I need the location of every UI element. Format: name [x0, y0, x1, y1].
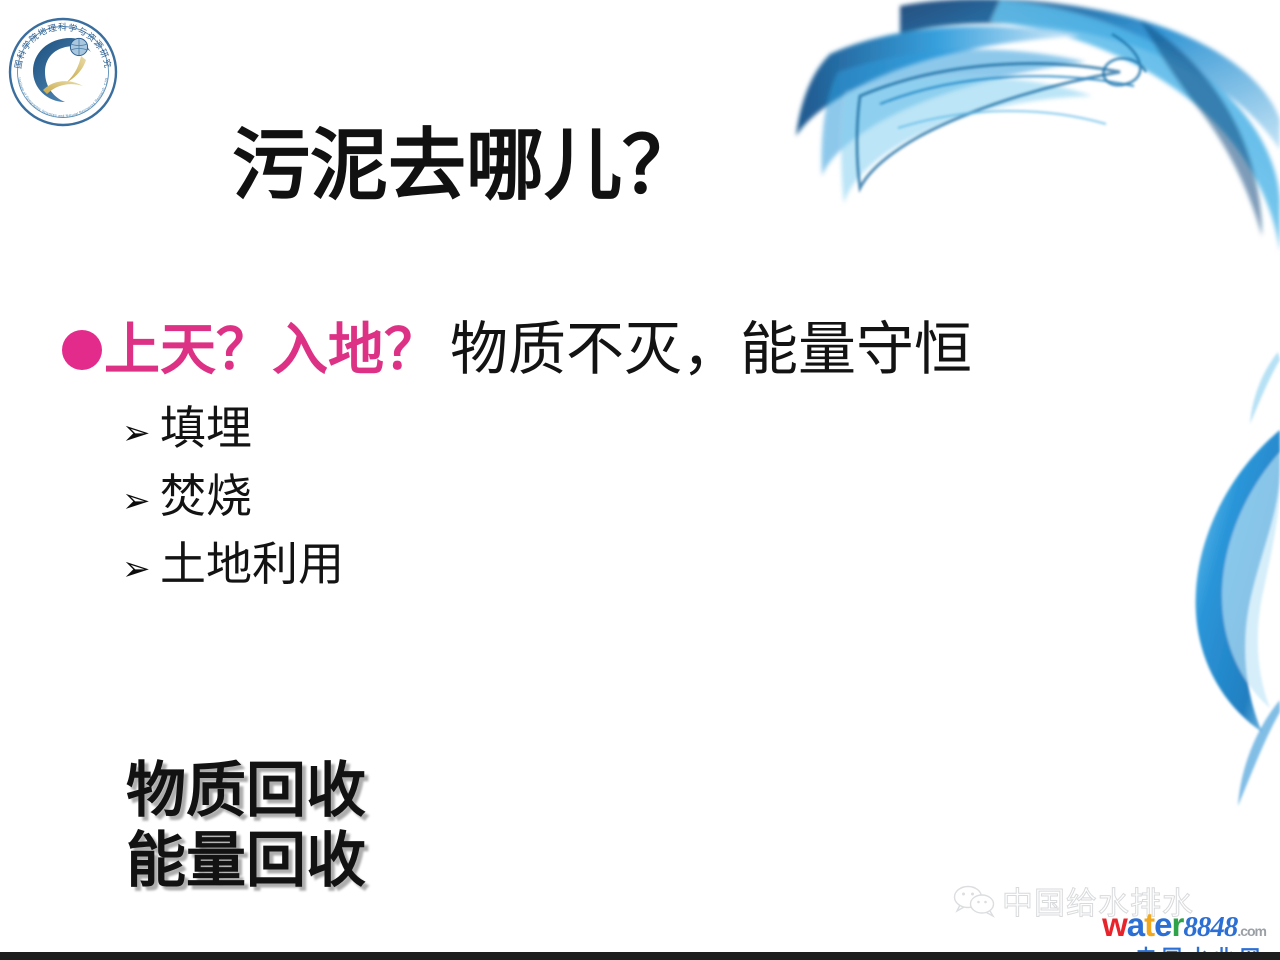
- sub-bullet-label: 土地利用: [160, 542, 344, 588]
- presentation-slide: 中国科学院地理科学与资源研究所 Institute of Geographic …: [0, 0, 1280, 960]
- bullet-dot-icon: [62, 330, 102, 370]
- sub-bullet-label: 填埋: [160, 406, 252, 452]
- closing-statement: 物质回收 能量回收: [126, 756, 366, 896]
- sub-bullet-item-landfill: ➢ 填埋: [122, 406, 344, 474]
- sub-bullet-item-land-use: ➢ 土地利用: [122, 542, 344, 610]
- sub-bullet-list: ➢ 填埋 ➢ 焚烧 ➢ 土地利用: [122, 406, 344, 610]
- logo-letter-r: r: [1171, 906, 1183, 943]
- bullet-black-text: 物质不灭，能量守恒: [450, 320, 972, 381]
- top-right-swirl: [796, 0, 1280, 252]
- sub-bullet-item-incineration: ➢ 焚烧: [122, 474, 344, 542]
- right-edge-leaf: [1196, 352, 1280, 806]
- sub-bullet-label: 焚烧: [160, 474, 252, 520]
- logo-letter-a: a: [1127, 906, 1144, 943]
- closing-line-material-recovery: 物质回收: [126, 756, 366, 826]
- bullet-pink-text: 上天？入地？: [104, 321, 440, 380]
- wechat-icon: [952, 884, 996, 918]
- top-right-swirl-threads: [857, 34, 1146, 188]
- arrow-bullet-icon: ➢: [122, 484, 160, 518]
- institute-seal: 中国科学院地理科学与资源研究所 Institute of Geographic …: [7, 16, 119, 128]
- logo-letter-e: e: [1154, 906, 1171, 943]
- water8848-wordmark: water8848.com: [1102, 908, 1266, 942]
- logo-letter-t: t: [1144, 906, 1154, 943]
- slide-title: 污泥去哪儿？: [232, 126, 700, 204]
- arrow-bullet-icon: ➢: [122, 552, 160, 586]
- logo-number: 8848: [1183, 911, 1237, 943]
- arrow-bullet-icon: ➢: [122, 416, 160, 450]
- main-bullet-line: 上天？入地？ 物质不灭，能量守恒: [62, 320, 972, 381]
- bottom-strip: [0, 952, 1280, 960]
- logo-letter-w: w: [1102, 906, 1127, 943]
- logo-tld: .com: [1237, 923, 1266, 939]
- closing-line-energy-recovery: 能量回收: [126, 826, 366, 896]
- watermark: 中国给水排水 water8848.com 中国水业网: [952, 878, 1272, 956]
